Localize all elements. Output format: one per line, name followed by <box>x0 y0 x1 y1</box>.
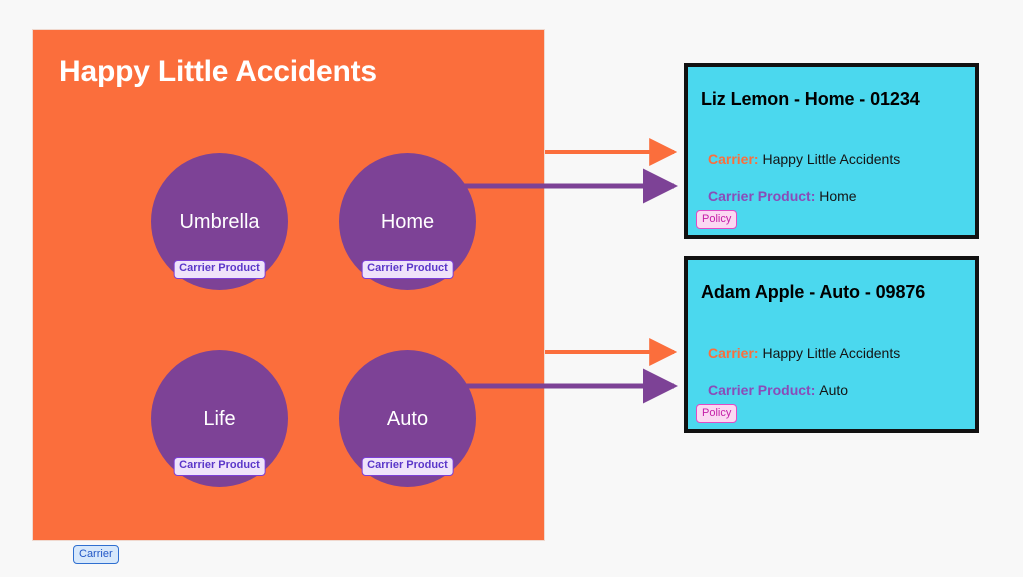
carrier-badge: Carrier <box>73 545 119 564</box>
policy-product-key: Carrier Product: <box>708 382 819 398</box>
carrier-product-node-auto[interactable]: Auto Carrier Product <box>339 350 476 487</box>
policy-title: Liz Lemon - Home - 01234 <box>701 88 946 111</box>
carrier-product-label: Auto <box>387 409 428 429</box>
policy-product-value: Home <box>819 188 856 204</box>
policy-badge: Policy <box>696 404 737 423</box>
policy-title: Adam Apple - Auto - 09876 <box>701 281 946 304</box>
carrier-product-node-umbrella[interactable]: Umbrella Carrier Product <box>151 153 288 290</box>
carrier-product-node-home[interactable]: Home Carrier Product <box>339 153 476 290</box>
carrier-title: Happy Little Accidents <box>59 55 377 89</box>
carrier-product-node-life[interactable]: Life Carrier Product <box>151 350 288 487</box>
carrier-product-badge: Carrier Product <box>361 457 454 476</box>
carrier-product-badge: Carrier Product <box>173 457 266 476</box>
policy-product-key: Carrier Product: <box>708 188 819 204</box>
policy-carrier-key: Carrier: <box>708 151 762 167</box>
policy-carrier-value: Happy Little Accidents <box>762 345 900 361</box>
carrier-product-label: Life <box>203 409 235 429</box>
carrier-product-label: Umbrella <box>179 212 259 232</box>
carrier-container[interactable]: Happy Little Accidents Umbrella Carrier … <box>32 29 545 541</box>
policy-carrier-value: Happy Little Accidents <box>762 151 900 167</box>
carrier-product-label: Home <box>381 212 434 232</box>
diagram-canvas: Happy Little Accidents Umbrella Carrier … <box>0 0 1023 577</box>
policy-product-value: Auto <box>819 382 848 398</box>
policy-carrier-row: Carrier: Happy Little Accidents <box>708 151 900 167</box>
policy-card-1[interactable]: Liz Lemon - Home - 01234 Carrier: Happy … <box>684 63 979 239</box>
policy-badge: Policy <box>696 210 737 229</box>
carrier-product-badge: Carrier Product <box>173 260 266 279</box>
policy-carrier-key: Carrier: <box>708 345 762 361</box>
policy-carrier-row: Carrier: Happy Little Accidents <box>708 345 900 361</box>
carrier-product-badge: Carrier Product <box>361 260 454 279</box>
policy-product-row: Carrier Product: Auto <box>708 382 848 398</box>
policy-product-row: Carrier Product: Home <box>708 188 857 204</box>
policy-card-2[interactable]: Adam Apple - Auto - 09876 Carrier: Happy… <box>684 256 979 433</box>
